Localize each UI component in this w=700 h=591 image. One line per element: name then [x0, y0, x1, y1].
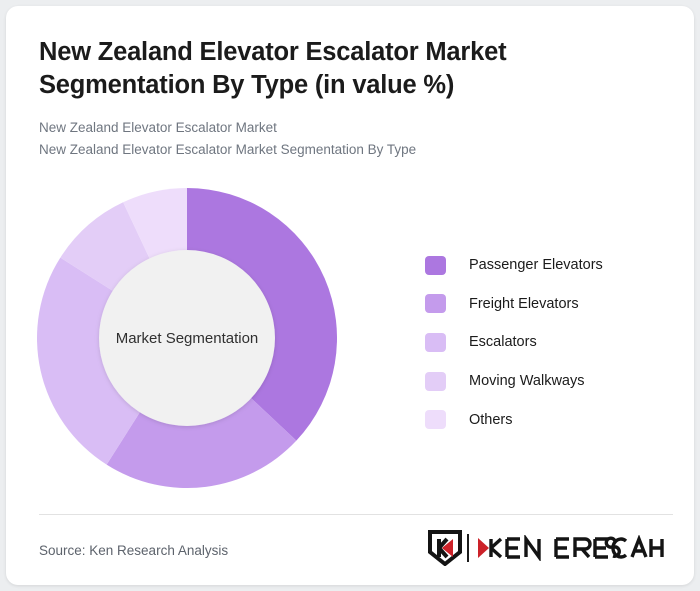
ken-research-logo — [428, 527, 672, 569]
legend-item[interactable]: Freight Elevators — [425, 285, 675, 324]
legend-swatch — [425, 294, 446, 313]
legend-swatch — [425, 410, 446, 429]
legend-label: Freight Elevators — [469, 296, 579, 312]
footer-divider — [39, 514, 673, 515]
subtitle-line-2: New Zealand Elevator Escalator Market Se… — [39, 139, 659, 161]
legend-item[interactable]: Others — [425, 400, 675, 439]
legend-swatch — [425, 333, 446, 352]
legend-swatch — [425, 256, 446, 275]
legend-swatch — [425, 372, 446, 391]
subtitle-block: New Zealand Elevator Escalator Market Ne… — [39, 117, 659, 161]
chart-legend: Passenger ElevatorsFreight ElevatorsEsca… — [425, 246, 675, 439]
legend-label: Escalators — [469, 334, 537, 350]
legend-item[interactable]: Passenger Elevators — [425, 246, 675, 285]
page-title: New Zealand Elevator Escalator Market Se… — [39, 36, 679, 101]
donut-svg — [37, 188, 337, 488]
ken-research-wordmark — [476, 535, 672, 561]
logo-separator — [467, 534, 469, 562]
source-note: Source: Ken Research Analysis — [39, 543, 228, 558]
donut-chart: Market Segmentation — [37, 188, 337, 488]
ken-research-shield-icon — [428, 530, 462, 566]
legend-item[interactable]: Escalators — [425, 323, 675, 362]
legend-label: Others — [469, 412, 513, 428]
legend-item[interactable]: Moving Walkways — [425, 362, 675, 401]
legend-label: Passenger Elevators — [469, 257, 603, 273]
legend-label: Moving Walkways — [469, 373, 585, 389]
donut-hole — [99, 250, 275, 426]
chart-card: New Zealand Elevator Escalator Market Se… — [6, 6, 694, 585]
subtitle-line-1: New Zealand Elevator Escalator Market — [39, 117, 659, 139]
